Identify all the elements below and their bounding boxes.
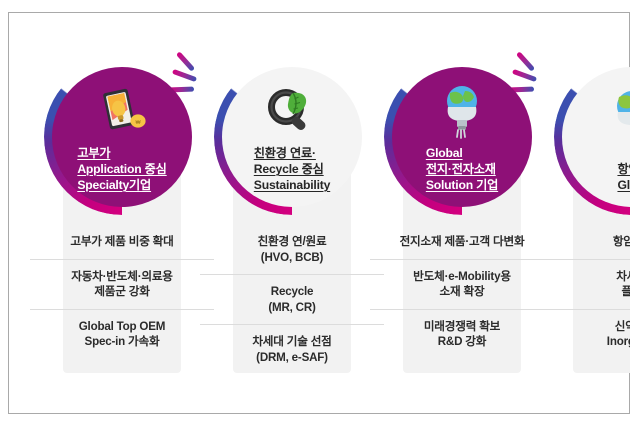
tire-leaf-icon [222,83,362,141]
bubble-title-4: 항암 · Glob [617,161,630,193]
bullet-item: 신약 ㅍ Inorganic [540,309,630,359]
bullet-list-1: 고부가 제품 비중 확대 자동차·반도체·의료용 제품군 강화 Global T… [30,225,214,359]
bubble-title-3: Global 전지·전자소재 Solution 기업 [426,145,498,193]
bullet-item: 친환경 연/원료 (HVO, BCB) [200,225,384,274]
bullet-item: Global Top OEM Spec-in 가속화 [30,309,214,359]
bullet-list-2: 친환경 연/원료 (HVO, BCB) Recycle (MR, CR) 차세대… [200,225,384,374]
slide-canvas: ₩ 고부가 Application 중심 Specialty기업 고부가 제품 … [0,0,640,426]
tablet-lightbulb-icon: ₩ [52,83,192,141]
globe-lightbulb-icon [392,83,532,141]
bubble-title-2: 친환경 연료· Recycle 중심 Sustainability [254,145,330,193]
svg-text:₩: ₩ [135,120,141,126]
bullet-item: 차세대 플랫 [540,259,630,309]
bubble-specialty[interactable]: ₩ 고부가 Application 중심 Specialty기업 [52,67,192,207]
bullet-item: 미래경쟁력 확보 R&D 강화 [370,309,554,359]
slide-content: ₩ 고부가 Application 중심 Specialty기업 고부가 제품 … [9,13,630,413]
bullet-item: 반도체·e-Mobility용 소재 확장 [370,259,554,309]
bubble-sustainability[interactable]: 친환경 연료· Recycle 중심 Sustainability [222,67,362,207]
bullet-item: 차세대 기술 선점 (DRM, e-SAF) [200,324,384,374]
card-global-pharma[interactable]: 항암 · Glob 항암 Po 차세대 플랫 신약 ㅍ Inorganic [532,13,630,413]
bullet-item: 항암 Po [540,225,630,259]
bullet-list-4: 항암 Po 차세대 플랫 신약 ㅍ Inorganic [540,225,630,359]
bullet-item: Recycle (MR, CR) [200,274,384,324]
bubble-battery-solution[interactable]: Global 전지·전자소재 Solution 기업 [392,67,532,207]
bubble-title-1: 고부가 Application 중심 Specialty기업 [77,145,166,193]
bullet-list-3: 전지소재 제품·고객 다변화 반도체·e-Mobility용 소재 확장 미래경… [370,225,554,359]
bullet-item: 자동차·반도체·의료용 제품군 강화 [30,259,214,309]
bullet-item: 고부가 제품 비중 확대 [30,225,214,259]
bullet-item: 전지소재 제품·고객 다변화 [370,225,554,259]
